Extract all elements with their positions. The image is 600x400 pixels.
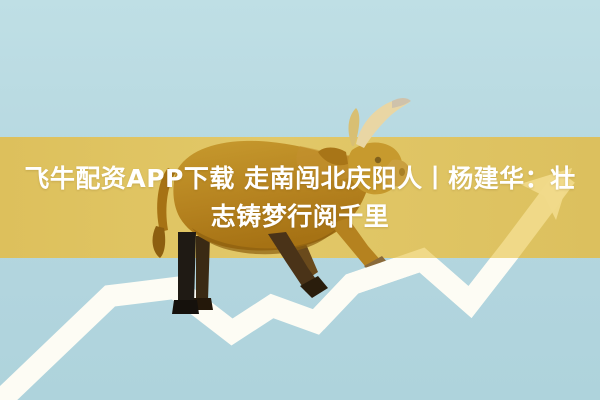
bull-rear-leg-far <box>196 236 210 302</box>
bull-rear-hoof-near <box>172 300 199 314</box>
bull-nostril <box>399 168 405 176</box>
banner-artwork <box>0 0 600 400</box>
banner-image: 飞牛配资APP下载 走南闯北庆阳人丨杨建华：壮 志铸梦行阅千里 <box>0 0 600 400</box>
bull-rear-leg-near <box>178 232 196 306</box>
bull-eye <box>375 157 381 163</box>
